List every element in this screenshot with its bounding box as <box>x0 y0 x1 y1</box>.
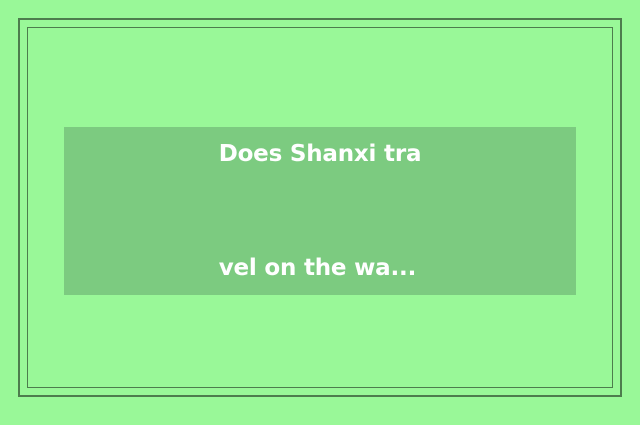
content-panel: Does Shanxi tra vel on the wa... <box>64 127 576 295</box>
title-line-1: Does Shanxi tra <box>219 135 422 173</box>
placeholder-title: Does Shanxi tra vel on the wa... <box>219 59 422 363</box>
placeholder-card: Does Shanxi tra vel on the wa... <box>0 0 640 425</box>
title-line-2: vel on the wa... <box>219 249 422 287</box>
